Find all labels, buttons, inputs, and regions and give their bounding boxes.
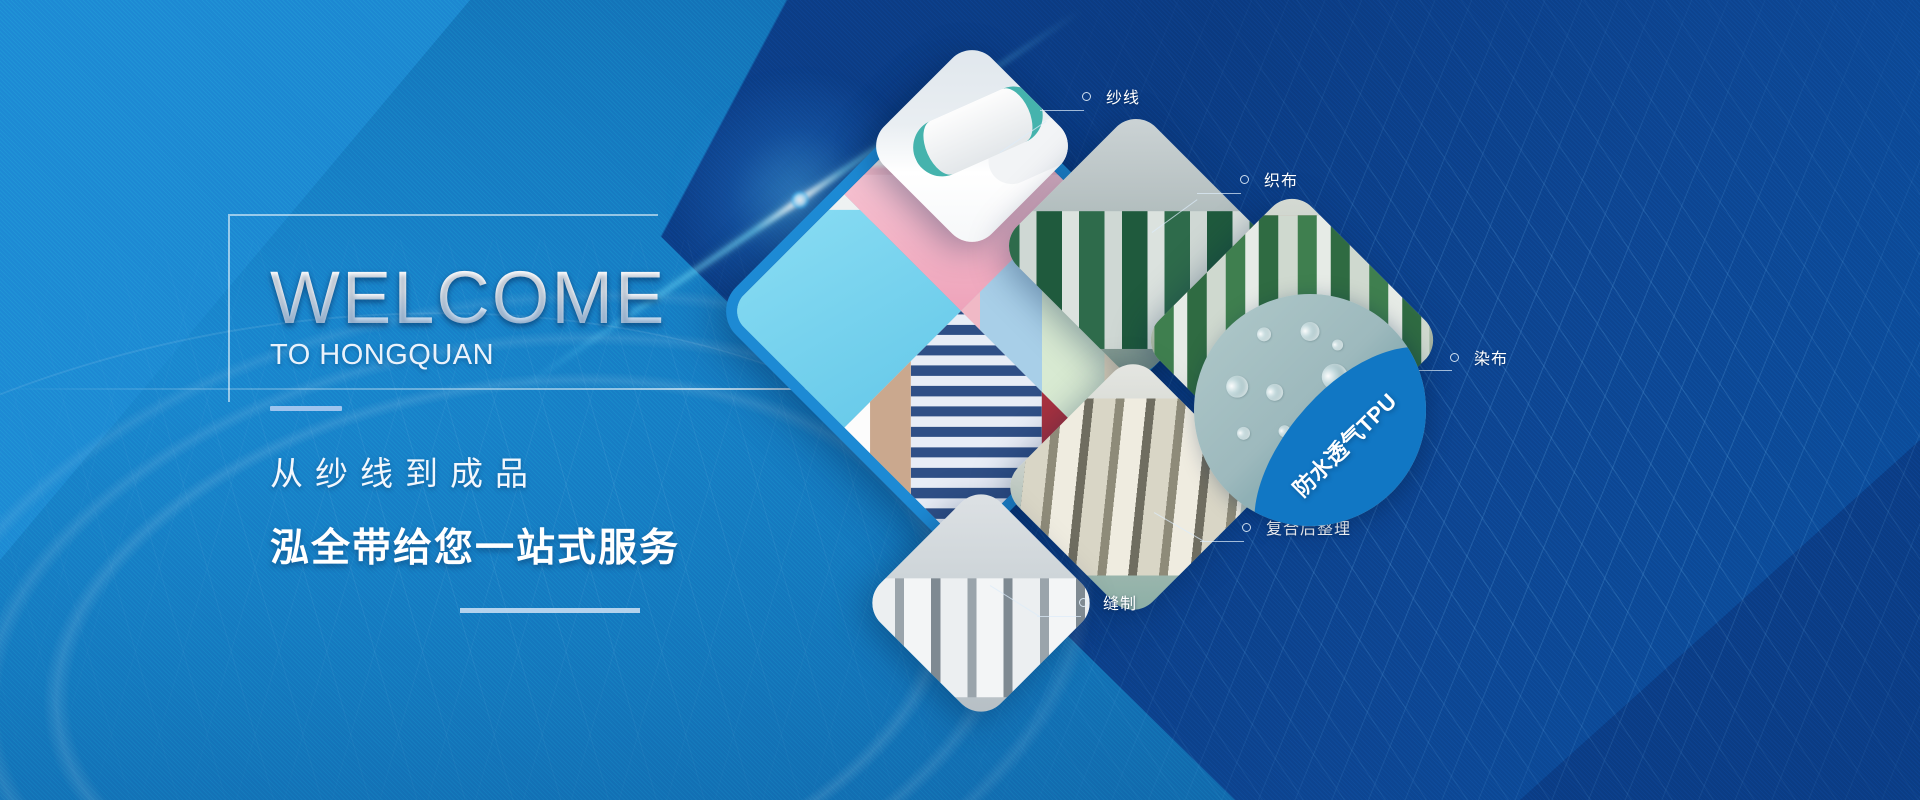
callout-label-dyeing: 染布 <box>1474 345 1508 369</box>
callout-label-weaving: 织布 <box>1264 167 1298 191</box>
callout-dyeing[interactable]: 染布 <box>1450 345 1508 369</box>
leader-line-yarn-2 <box>1040 110 1084 111</box>
callout-weaving[interactable]: 织布 <box>1240 167 1298 191</box>
callout-dot-icon <box>1079 598 1088 607</box>
hero-banner: WELCOME TO HONGQUAN 从纱线到成品 泓全带给您一站式服务 <box>0 0 1920 800</box>
leader-line-laminating-2 <box>1200 541 1244 542</box>
leader-line-weaving-2 <box>1197 193 1241 194</box>
callout-label-sewing: 缝制 <box>1103 590 1137 614</box>
divider-long <box>460 608 640 613</box>
leader-line-sewing-2 <box>1037 616 1081 617</box>
callout-dot-icon <box>1082 92 1091 101</box>
callout-sewing[interactable]: 缝制 <box>1079 590 1137 614</box>
callout-label-yarn: 纱线 <box>1106 84 1140 108</box>
divider-short <box>270 406 342 411</box>
callout-dot-icon <box>1242 523 1251 532</box>
callout-dot-icon <box>1450 353 1459 362</box>
callout-dot-icon <box>1240 175 1249 184</box>
process-collage: 防水透气TPU 纱线 <box>700 20 1920 800</box>
callout-yarn[interactable]: 纱线 <box>1082 84 1140 108</box>
